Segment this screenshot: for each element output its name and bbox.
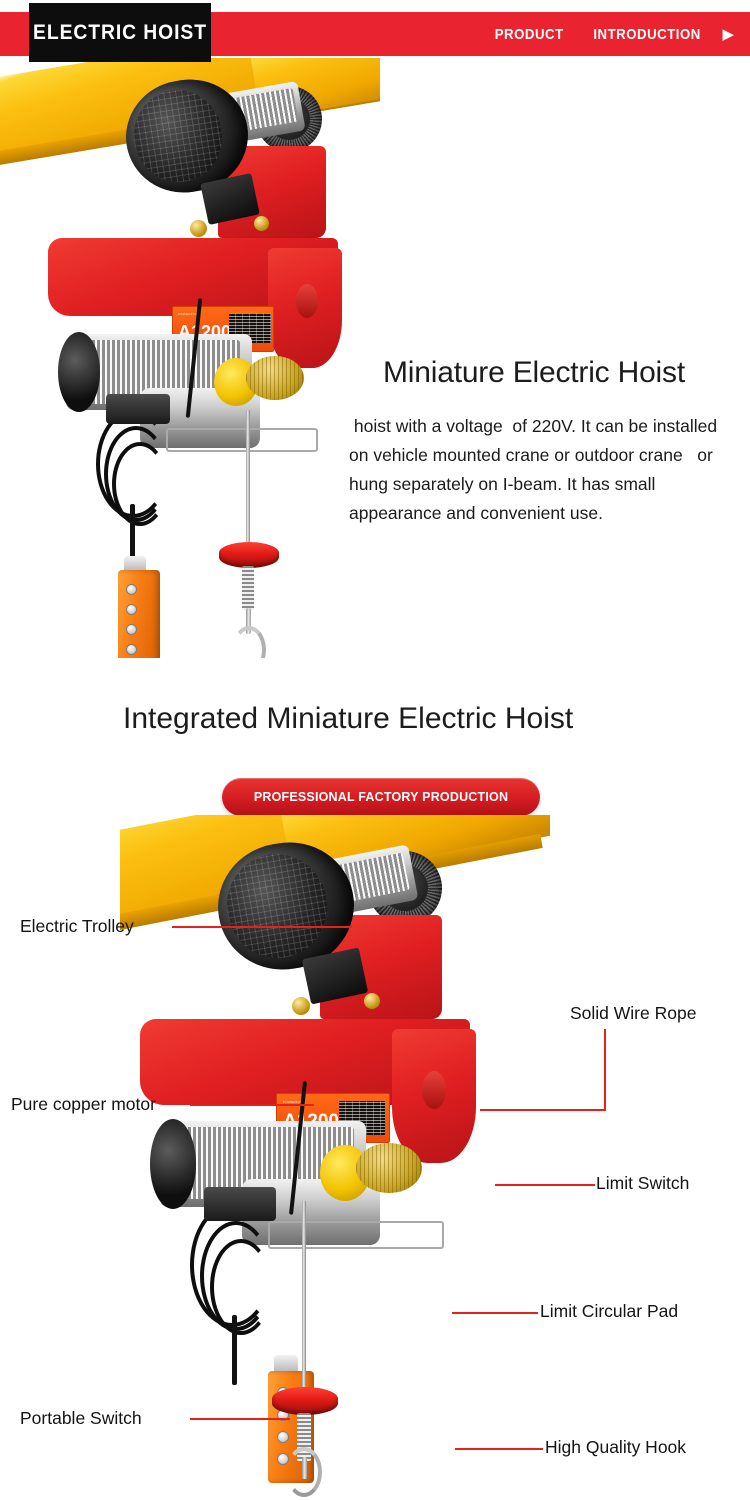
product-introduction-page: ELECTRIC HOIST PRODUCT INTRODUCTION ▶ (0, 0, 750, 1500)
callout-label-limit-switch: Limit Switch (596, 1175, 689, 1193)
side-cover-emboss (422, 1071, 446, 1109)
leader-line-limit-circular-pad (452, 1312, 538, 1314)
motor-end-cap (58, 332, 100, 412)
rope-drum (246, 356, 304, 400)
pendant-button[interactable] (126, 584, 137, 595)
annotated-product-photo: POWERFUL A1200 (120, 815, 550, 1500)
hex-bolt (364, 993, 380, 1009)
callout-label-limit-circular-pad: Limit Circular Pad (540, 1303, 678, 1321)
nav-item-introduction[interactable]: INTRODUCTION (594, 26, 702, 43)
high-quality-hook (286, 1447, 322, 1497)
rope-spring (242, 566, 254, 610)
pendant-button[interactable] (126, 624, 137, 635)
section1-description: hoist with a voltage of 220V. It can be … (349, 412, 741, 528)
hex-bolt (254, 216, 269, 231)
leader-line-limit-switch (495, 1184, 595, 1186)
limit-switch-bar (268, 1221, 444, 1249)
cable-clamp (106, 394, 170, 424)
limit-circular-pad (272, 1387, 338, 1415)
portable-switch (118, 570, 160, 658)
wire-rope (302, 1201, 306, 1387)
limit-switch-bar (166, 428, 318, 452)
leader-line-electric-trolley (172, 926, 352, 928)
leader-line-solid-wire-rope-vertical (604, 1029, 606, 1111)
callout-label-electric-trolley: Electric Trolley (20, 918, 134, 936)
side-cover-emboss (296, 284, 318, 318)
callout-label-high-quality-hook: High Quality Hook (545, 1439, 686, 1457)
rope-drum (356, 1143, 422, 1193)
header-nav: PRODUCT INTRODUCTION ▶ (490, 12, 734, 56)
callout-label-solid-wire-rope: Solid Wire Rope (570, 1005, 696, 1023)
header-title-badge: ELECTRIC HOIST (29, 3, 211, 62)
limit-circular-pad (219, 542, 279, 568)
pendant-button[interactable] (277, 1431, 289, 1443)
section2-title: Integrated Miniature Electric Hoist (123, 702, 573, 736)
hex-bolt (292, 997, 310, 1015)
page-title: ELECTRIC HOIST (36, 3, 203, 62)
wire-rope (246, 410, 250, 542)
section1-title: Miniature Electric Hoist (383, 356, 685, 390)
leader-line-pure-copper-motor (190, 1104, 314, 1106)
pendant-button[interactable] (126, 644, 137, 655)
leader-line-solid-wire-rope-horizontal (480, 1109, 606, 1111)
factory-production-badge-label: PROFESSIONAL FACTORY PRODUCTION (254, 790, 508, 804)
callout-label-pure-copper-motor: Pure copper motor (11, 1096, 156, 1114)
power-cable-loop (112, 442, 168, 526)
pendant-cable (232, 1315, 237, 1385)
hex-bolt (190, 220, 207, 237)
power-cable-loop (210, 1239, 272, 1335)
high-quality-hook (232, 626, 266, 658)
brand-mark: POWERFUL (178, 312, 197, 316)
nav-item-product[interactable]: PRODUCT (495, 26, 564, 43)
pendant-cable (130, 504, 135, 564)
leader-line-portable-switch (190, 1418, 290, 1420)
play-arrow-icon[interactable]: ▶ (722, 27, 734, 42)
motor-end-cap (150, 1119, 196, 1209)
factory-production-badge: PROFESSIONAL FACTORY PRODUCTION (222, 778, 540, 816)
cable-clamp (204, 1187, 276, 1221)
callout-label-portable-switch: Portable Switch (20, 1410, 142, 1428)
hero-product-photo: POWERFUL A1200 (0, 58, 380, 658)
pendant-button[interactable] (126, 604, 137, 615)
leader-line-high-quality-hook (455, 1448, 543, 1450)
